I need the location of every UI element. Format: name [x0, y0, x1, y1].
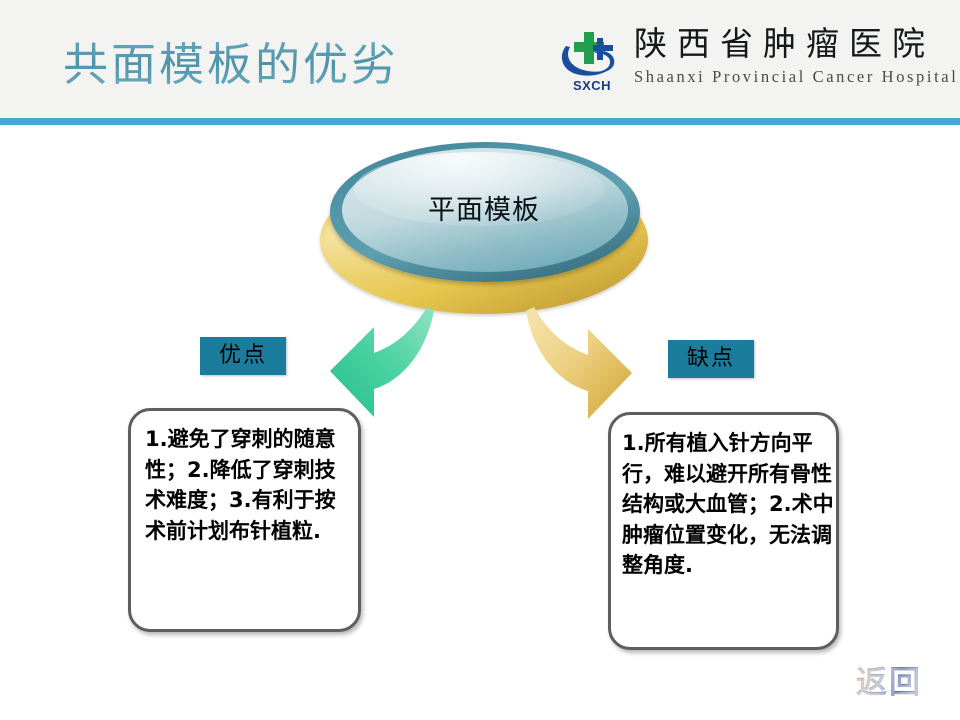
hospital-name-en: Shaanxi Provincial Cancer Hospital — [634, 66, 952, 88]
header-divider-rule — [0, 118, 960, 125]
hospital-logo: SXCH 陕西省肿瘤医院 Shaanxi Provincial Cancer H… — [556, 24, 954, 100]
hospital-name-block: 陕西省肿瘤医院 Shaanxi Provincial Cancer Hospit… — [634, 24, 952, 88]
cons-callout-box: 1.所有植入针方向平行，难以避开所有骨性结构或大血管；2.术中肿瘤位置变化，无法… — [608, 412, 839, 650]
cons-badge: 缺点 — [668, 340, 754, 378]
pros-badge: 优点 — [200, 337, 286, 375]
svg-text:SXCH: SXCH — [573, 78, 611, 93]
cons-text: 1.所有植入针方向平行，难以避开所有骨性结构或大血管；2.术中肿瘤位置变化，无法… — [622, 428, 834, 581]
green-curved-arrow-icon — [330, 305, 445, 425]
sxch-logo-icon: SXCH — [556, 24, 628, 94]
pros-callout-box: 1.避免了穿刺的随意性；2.降低了穿刺技术难度；3.有利于按术前计划布针植粒. — [128, 408, 361, 632]
disc-label: 平面模板 — [320, 188, 648, 227]
flat-template-disc: 平面模板 — [320, 142, 648, 314]
page-title: 共面模板的优劣 — [63, 28, 399, 93]
gold-curved-arrow-icon — [520, 305, 640, 425]
return-button[interactable]: 返回 — [843, 662, 935, 704]
pros-text: 1.避免了穿刺的随意性；2.降低了穿刺技术难度；3.有利于按术前计划布针植粒. — [145, 424, 351, 546]
hospital-name-cn: 陕西省肿瘤医院 — [634, 24, 952, 64]
